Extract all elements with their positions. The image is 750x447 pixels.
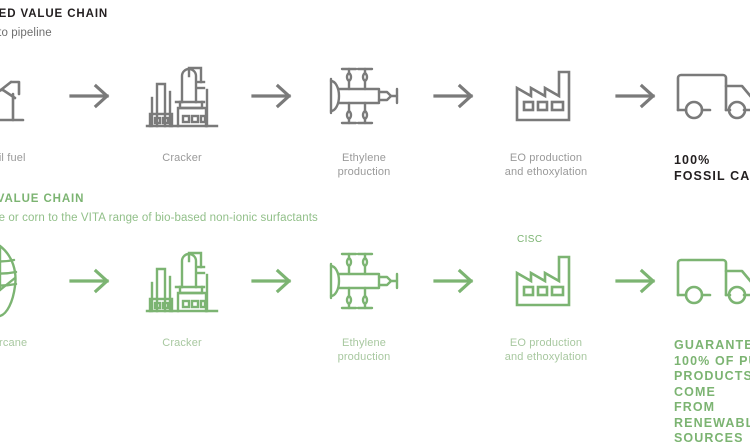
factory-icon bbox=[511, 55, 581, 137]
bio-value-chain-section: BIO-BASED VALUE CHAIN From sugarcane or … bbox=[0, 185, 750, 430]
stage-label: Cracker bbox=[162, 336, 202, 350]
arrow-right-icon-4 bbox=[606, 55, 668, 137]
arrow-right-icon-6 bbox=[242, 240, 304, 322]
bio-chain-heading: BIO-BASED VALUE CHAIN bbox=[0, 193, 84, 205]
delivery-truck-icon bbox=[674, 55, 750, 137]
stage-eo-production: EO production and ethoxylation bbox=[486, 55, 606, 179]
bio-chain-subheading: From sugarcane or corn to the VITA range… bbox=[0, 212, 318, 224]
oil-pumpjack-icon bbox=[0, 55, 37, 137]
fossil-flow: Fossil fuel bbox=[0, 55, 750, 184]
stage-label: Cracker bbox=[162, 151, 202, 165]
arrow-right-icon-7 bbox=[424, 240, 486, 322]
stage-sugarcane: Sugarcane bbox=[0, 240, 60, 350]
bio-result-text: GUARANTEED 100% OF PURE PRODUCTS COME FR… bbox=[674, 338, 750, 447]
arrow-right-icon-1 bbox=[60, 55, 122, 137]
fossil-chain-heading: FOSSIL-BASED VALUE CHAIN bbox=[0, 8, 108, 20]
bio-flow: Sugarcane bbox=[0, 240, 750, 447]
arrow-right-icon-5 bbox=[60, 240, 122, 322]
stage-ethylene-production: Ethylene production bbox=[304, 55, 424, 179]
corn-cob-icon bbox=[0, 240, 31, 322]
stage-eo-production: CISC EO production and ethoxylation bbox=[486, 240, 606, 364]
stage-cracker: Cracker bbox=[122, 240, 242, 350]
arrow-right-icon-2 bbox=[242, 55, 304, 137]
stage-label: Ethylene production bbox=[338, 151, 391, 179]
cisc-tag: CISC bbox=[517, 234, 543, 245]
stage-label: Ethylene production bbox=[338, 336, 391, 364]
stage-cracker: Cracker bbox=[122, 55, 242, 165]
cracker-plant-icon bbox=[144, 240, 220, 322]
arrow-right-icon-8 bbox=[606, 240, 668, 322]
value-chain-infographic: FOSSIL-BASED VALUE CHAIN From crude oil … bbox=[0, 0, 750, 430]
stage-label: EO production and ethoxylation bbox=[505, 336, 588, 364]
stage-fossil-fuel: Fossil fuel bbox=[0, 55, 60, 165]
fossil-chain-subheading: From crude oil to pipeline bbox=[0, 27, 52, 39]
result-fossil-carbon: 100% FOSSIL CARBON bbox=[668, 55, 750, 184]
fossil-value-chain-section: FOSSIL-BASED VALUE CHAIN From crude oil … bbox=[0, 0, 750, 185]
stage-ethylene-production: Ethylene production bbox=[304, 240, 424, 364]
stage-label: EO production and ethoxylation bbox=[505, 151, 588, 179]
delivery-truck-icon bbox=[674, 240, 750, 322]
result-renewable-sources: GUARANTEED 100% OF PURE PRODUCTS COME FR… bbox=[668, 240, 750, 447]
arrow-right-icon-3 bbox=[424, 55, 486, 137]
stage-label: Sugarcane bbox=[0, 336, 27, 350]
ethylene-reactor-icon bbox=[323, 240, 405, 322]
factory-icon: CISC bbox=[511, 240, 581, 322]
ethylene-reactor-icon bbox=[323, 55, 405, 137]
stage-label: Fossil fuel bbox=[0, 151, 26, 165]
cracker-plant-icon bbox=[144, 55, 220, 137]
fossil-result-text: 100% FOSSIL CARBON bbox=[674, 153, 750, 184]
